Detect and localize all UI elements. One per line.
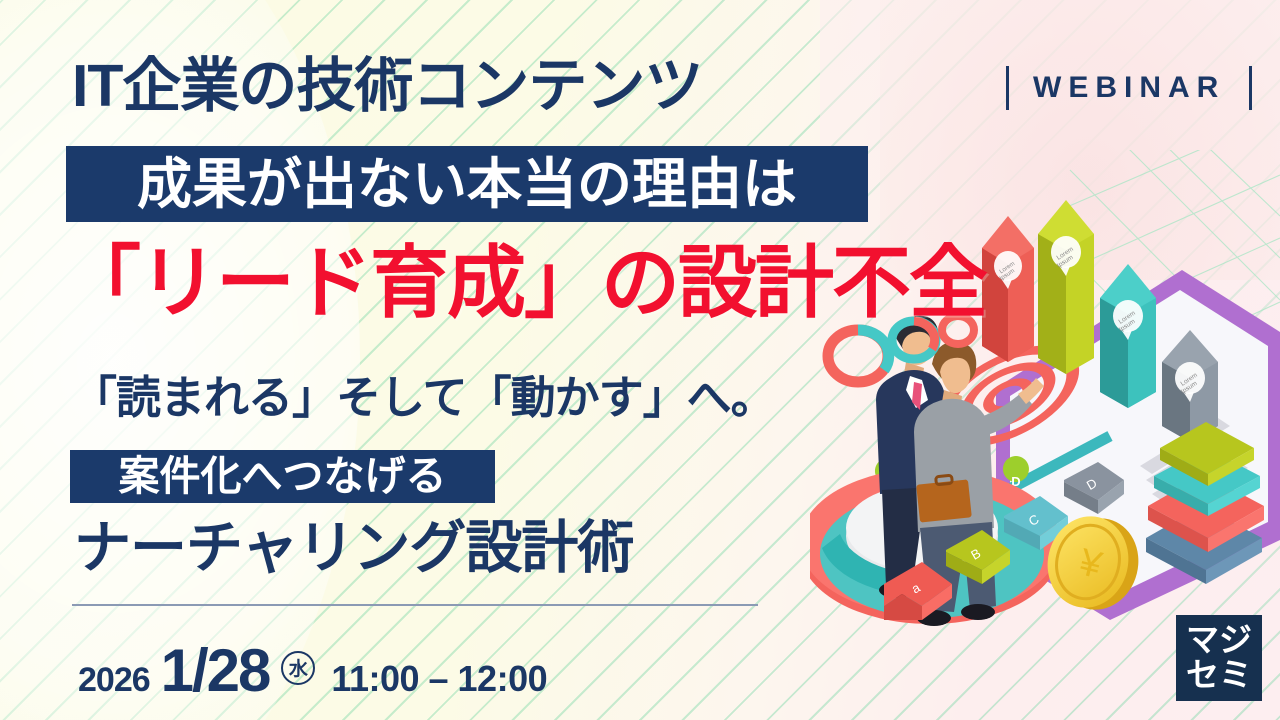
headline-line-4-subtitle: 「読まれる」そして「動かす」へ。 (72, 375, 775, 420)
schedule-time: 11:00 – 12:00 (331, 658, 547, 700)
logo-line-1: マジ (1186, 623, 1252, 658)
webinar-banner: Lorem Ipsum Lorem Ipsum Lorem Ipsum (0, 0, 1280, 720)
schedule-row: 2026 1/28 水 11:00 – 12:00 (78, 636, 547, 705)
stacked-blocks (1146, 422, 1264, 584)
logo-line-2: セミ (1186, 658, 1252, 693)
schedule-year: 2026 (78, 661, 150, 700)
headline-line-3-emphasis: 「リード育成」の設計不全 (62, 240, 986, 325)
schedule-day-of-week: 水 (281, 651, 315, 685)
headline-line-1: IT企業の技術コンテンツ (72, 57, 702, 116)
webinar-badge: WEBINAR (1006, 66, 1252, 110)
webinar-badge-label: WEBINAR (1033, 73, 1225, 103)
majisemi-logo[interactable]: マジ セミ (1176, 615, 1262, 701)
headline-line-5-highlight: 案件化へつなげる (70, 450, 495, 503)
section-divider (72, 604, 758, 606)
badge-left-rule (1006, 66, 1009, 110)
schedule-date: 1/28 (161, 636, 270, 705)
headline-line-6-topic: ナーチャリング設計術 (74, 520, 633, 577)
headline-line-2-highlight: 成果が出ない本当の理由は (66, 146, 868, 222)
badge-right-rule (1249, 66, 1252, 110)
